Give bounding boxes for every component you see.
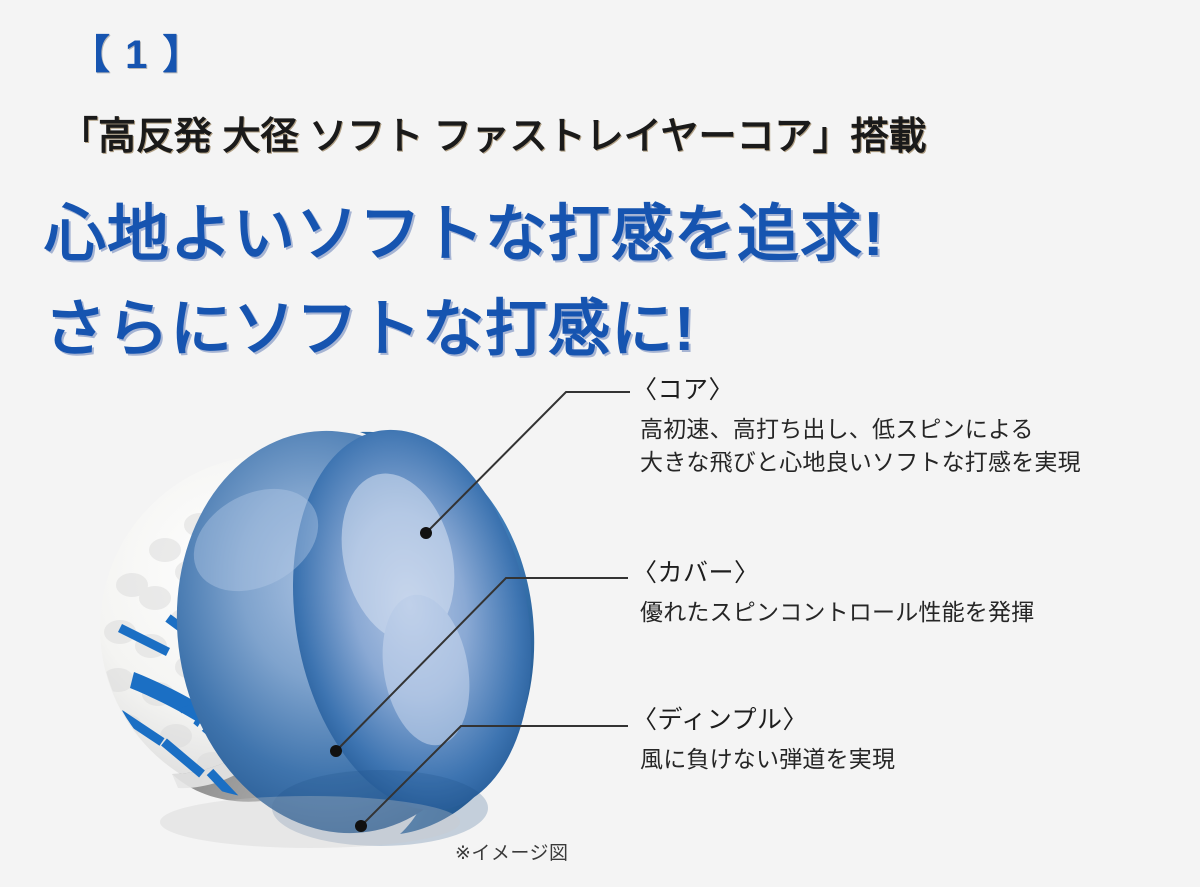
ball-drop-shadow bbox=[160, 796, 460, 848]
callout-core-line-2: 大きな飛びと心地良いソフトな打感を実現 bbox=[640, 446, 1081, 479]
callout-cover: 〈カバー〉 優れたスピンコントロール性能を発揮 bbox=[632, 558, 1034, 629]
callout-dimple-title: 〈ディンプル〉 bbox=[632, 705, 895, 735]
section-subtitle: 「高反発 大径 ソフト ファストレイヤーコア」搭載 bbox=[60, 105, 927, 160]
callout-core-line-1: 高初速、高打ち出し、低スピンによる bbox=[640, 413, 1081, 446]
callout-core: 〈コア〉 高初速、高打ち出し、低スピンによる 大きな飛びと心地良いソフトな打感を… bbox=[632, 375, 1081, 480]
headline-line-1: 心地よいソフトな打感を追求! bbox=[44, 183, 885, 273]
golf-ball-cutaway-illustration: AD SPEED bbox=[60, 370, 680, 870]
figure-note: ※イメージ図 bbox=[455, 838, 569, 865]
section-index-label: 【 1 】 bbox=[70, 22, 204, 80]
ball-cutaway-svg: AD SPEED bbox=[60, 370, 680, 870]
callout-dimple: 〈ディンプル〉 風に負けない弾道を実現 bbox=[632, 705, 895, 776]
callout-cover-title: 〈カバー〉 bbox=[632, 558, 1034, 588]
promo-slide: 【 1 】 「高反発 大径 ソフト ファストレイヤーコア」搭載 心地よいソフトな… bbox=[0, 0, 1200, 887]
callout-dimple-line-1: 風に負けない弾道を実現 bbox=[640, 743, 895, 776]
headline-line-2: さらにソフトな打感に! bbox=[44, 278, 696, 368]
callout-cover-line-1: 優れたスピンコントロール性能を発揮 bbox=[640, 596, 1034, 629]
callout-core-title: 〈コア〉 bbox=[632, 375, 1081, 405]
